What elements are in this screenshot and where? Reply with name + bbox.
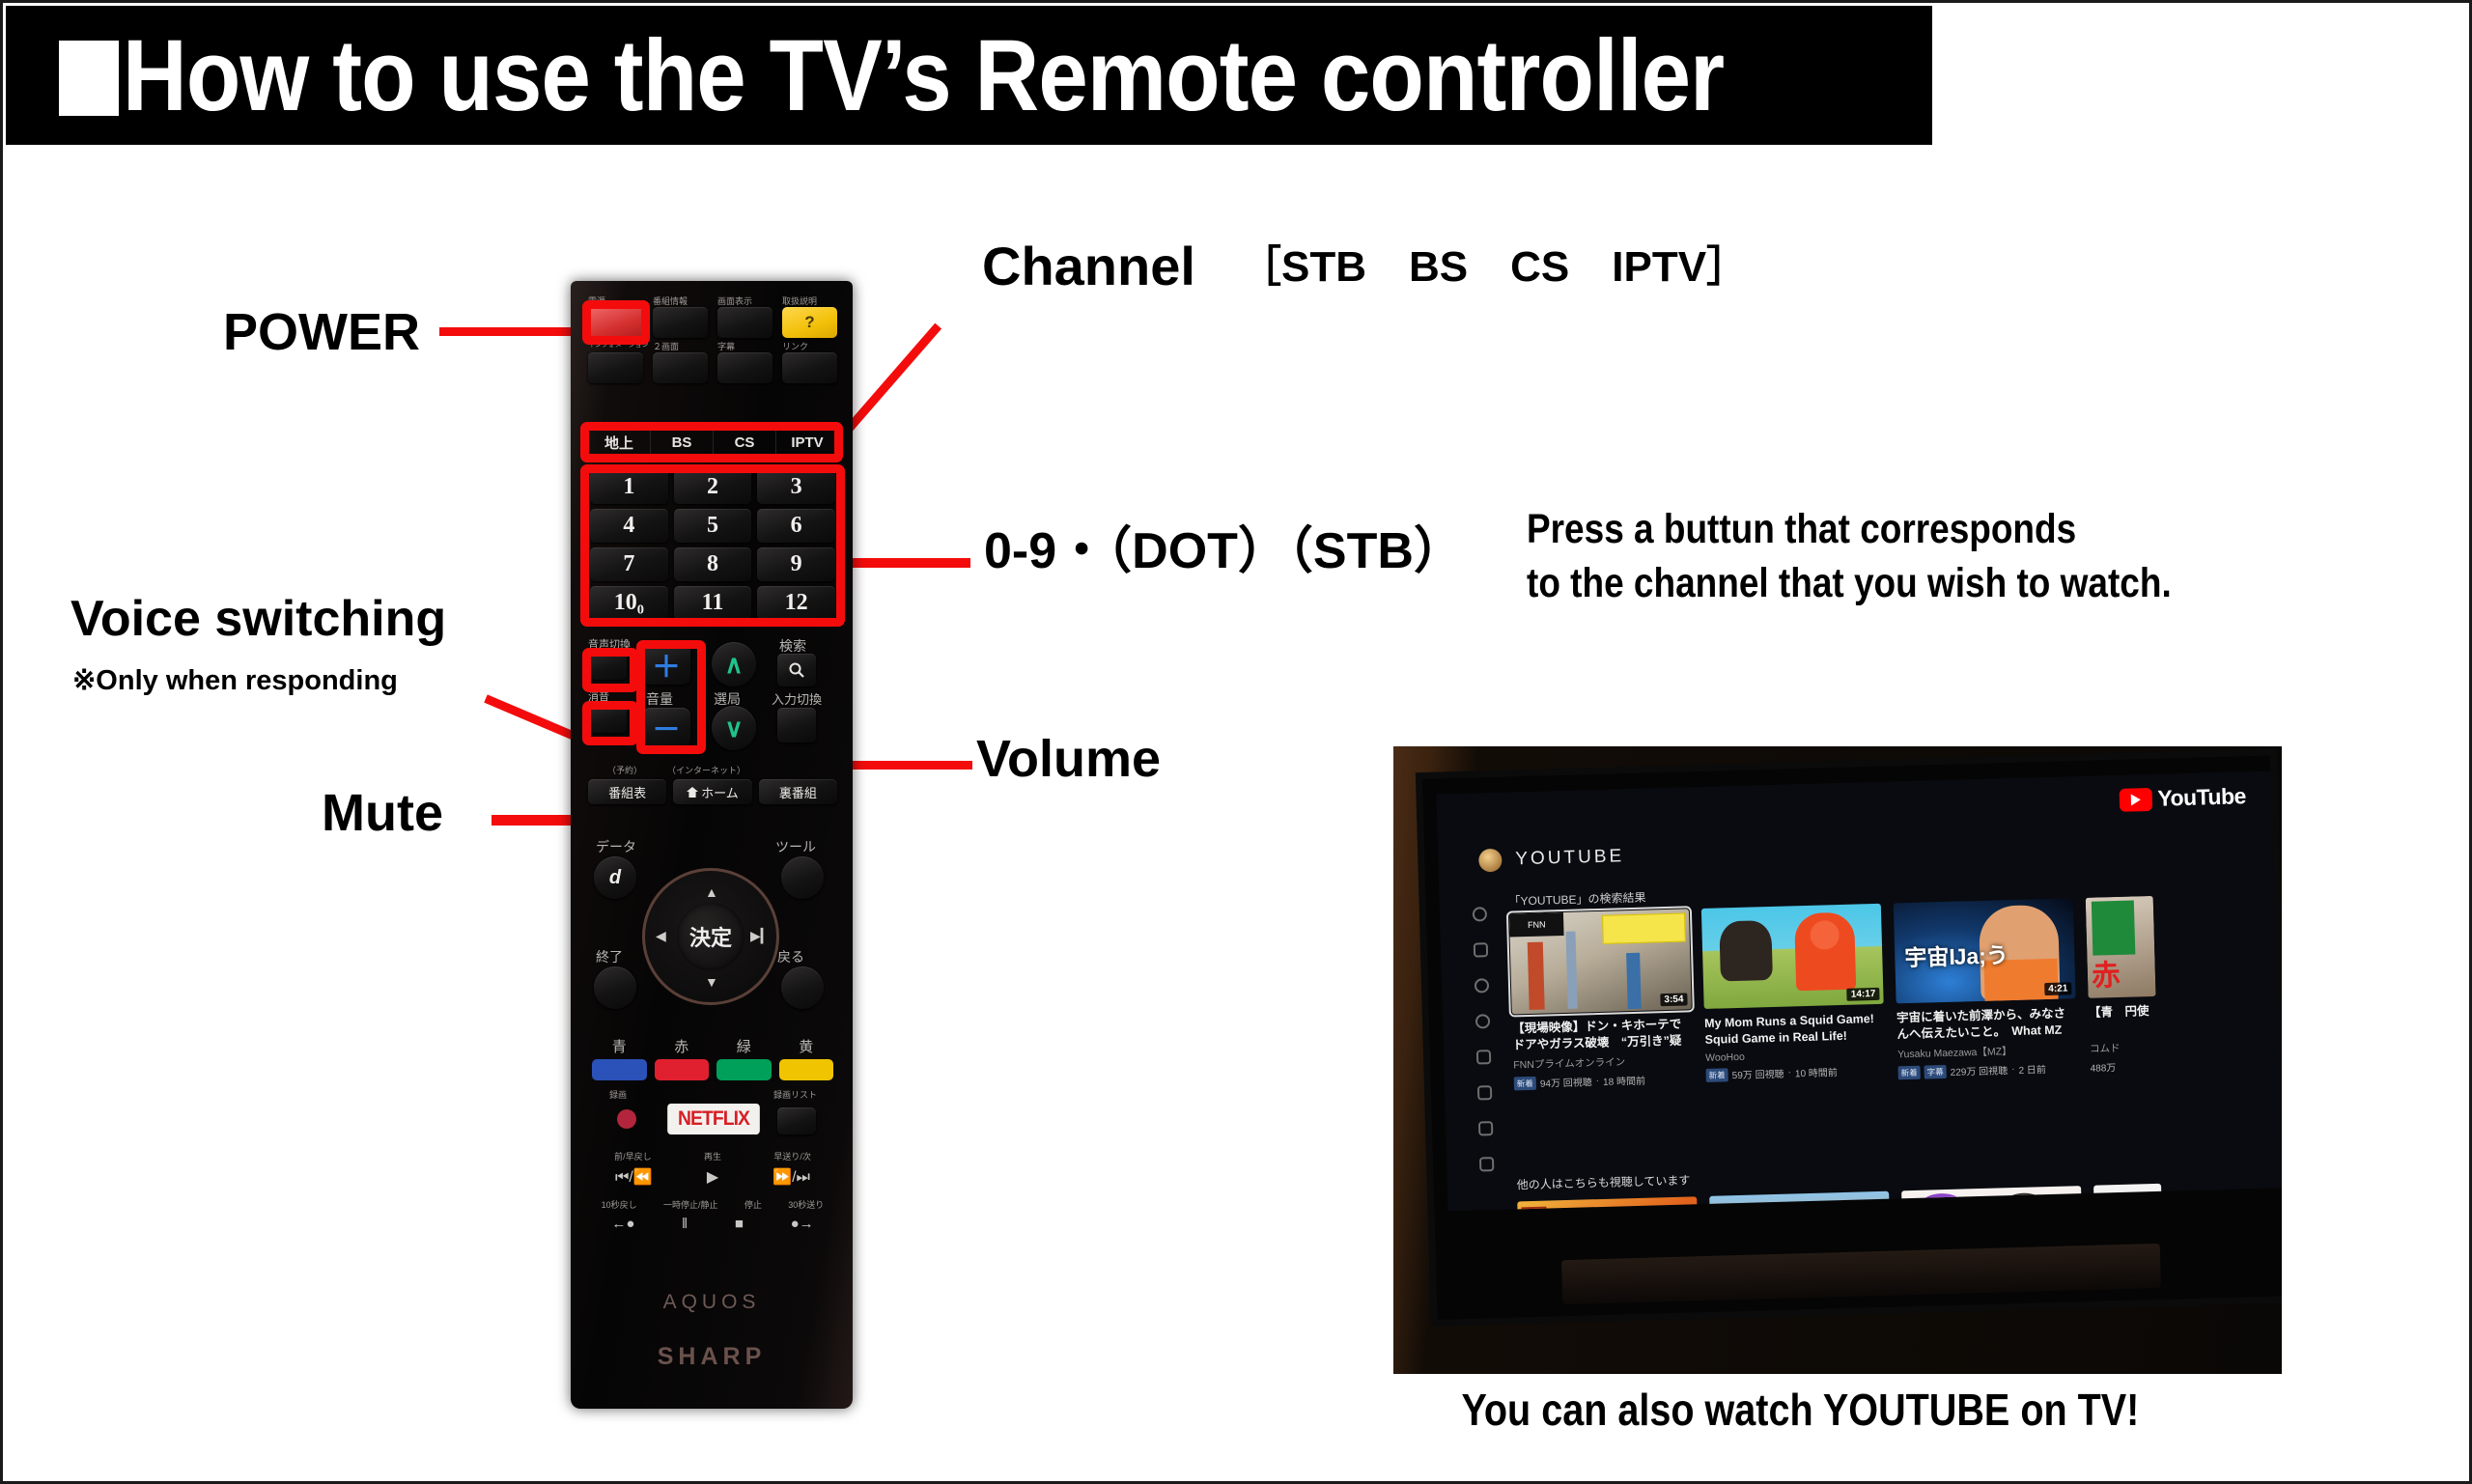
stop-button[interactable]: ■ [735, 1216, 744, 1232]
video-views: 229万 回視聴 [1950, 1062, 2008, 1078]
callout-channel-sources: ［STB BS CS IPTV］ [1239, 246, 1749, 290]
number-key-12[interactable]: 12 [757, 586, 835, 620]
video-meta: 新着 59万 回視聴 · 10 時間前 [1705, 1063, 1885, 1082]
youtube-sidebar-rail [1473, 907, 1495, 1171]
record-caption: 録画 [609, 1088, 627, 1101]
record-button[interactable] [617, 1109, 636, 1129]
back-button[interactable] [781, 966, 824, 1009]
youtube-header: YOUTUBE [1478, 845, 1624, 872]
tool-caption: ツール [775, 837, 816, 856]
internet-caption: （インターネット） [667, 764, 745, 776]
next-caption: 早送り/次 [773, 1150, 811, 1162]
power-button[interactable] [588, 307, 643, 338]
playback-captions-row1: 前/早戻し 再生 早送り/次 [588, 1150, 837, 1162]
input-switch-caption: 入力切換 [772, 689, 822, 708]
avatar[interactable] [1478, 849, 1503, 873]
sidebar-subscriptions-icon[interactable] [1475, 1014, 1490, 1028]
program-guide-button[interactable]: 番組表 [588, 779, 666, 804]
number-key-6[interactable]: 6 [757, 509, 835, 543]
video-views: 488万 [2090, 1059, 2116, 1075]
program-info-button[interactable] [653, 307, 708, 338]
button-caption-information: インフォメーション [588, 340, 643, 352]
mute-caption: 消音 [588, 688, 609, 704]
button-caption-screen-display: 画面表示 [717, 294, 772, 307]
data-caption: データ [596, 837, 636, 856]
video-channel: コムド [2090, 1040, 2157, 1056]
other-program-button[interactable]: 裏番組 [759, 779, 837, 804]
video-meta-sep: · [1787, 1067, 1791, 1078]
exit-caption: 終了 [596, 947, 623, 966]
dpad-right-icon[interactable]: ▶▎ [750, 928, 772, 944]
video-meta: 新着 94万 回視聴 · 18 時間前 [1514, 1071, 1694, 1090]
youtube-logo-word: YouTube [2157, 783, 2246, 812]
video-views: 94万 回視聴 [1540, 1074, 1592, 1089]
volume-down-button[interactable]: － [642, 708, 690, 746]
home-button[interactable]: ホーム [673, 779, 751, 804]
data-button[interactable]: d [594, 856, 636, 899]
home-button-label: ホーム [701, 783, 739, 801]
video-card[interactable]: 赤 【青 円使 コムド 488万 [2086, 896, 2158, 1075]
remote-menu-block: （予約） （インターネット） 番組表 ホーム 裏番組 [588, 764, 837, 804]
stop-caption: 停止 [744, 1198, 762, 1211]
tv-stand [1561, 1244, 2161, 1304]
callout-channel-label: Channel [982, 238, 1195, 294]
video-thumbnail[interactable]: FNN 3:54 [1509, 909, 1692, 1014]
youtube-header-title: YOUTUBE [1515, 846, 1624, 870]
button-caption-link: リンク [782, 340, 837, 352]
pause-caption: 一時停止/静止 [663, 1198, 718, 1211]
search-icon [788, 661, 805, 679]
number-key-1[interactable]: 1 [590, 470, 668, 504]
button-caption-program-info: 番組情報 [653, 294, 708, 307]
video-badge: 新着 [1705, 1068, 1728, 1082]
youtube-play-icon [2119, 787, 2152, 811]
video-thumbnail[interactable] [1517, 1196, 1699, 1211]
video-meta-sep: · [2011, 1064, 2015, 1075]
remote-top-button-grid: 電源 番組情報 画面表示 取扱説明 ? インフォメーション ２画面 字幕 リンク [588, 294, 837, 385]
search-button[interactable] [777, 654, 816, 686]
callout-volume-label: Volume [976, 733, 1161, 786]
tv-caption: You can also watch YOUTUBE on TV! [1393, 1384, 2207, 1436]
sidebar-settings-icon[interactable] [1479, 1157, 1494, 1171]
video-views: 59万 回視聴 [1731, 1066, 1784, 1081]
dpad-left-icon[interactable]: ◀ [656, 928, 666, 944]
channel-source-iptv[interactable]: IPTV [775, 428, 838, 458]
help-button[interactable]: ? [782, 307, 837, 338]
button-caption-subtitle: 字幕 [717, 340, 772, 352]
color-key-green[interactable] [716, 1059, 772, 1080]
tool-button[interactable] [781, 856, 824, 899]
video-age: 2 日前 [2018, 1061, 2046, 1077]
video-row-search-results: FNN 3:54 【現場映像】ドン・キホーテでドアやガラス破壊 “万引き”疑われ… [1509, 896, 2158, 1091]
video-title: 【青 円使 [2089, 1003, 2157, 1038]
video-card[interactable]: 宇宙Ĳa;う 4:21 宇宙に着いた前澤から、みなさんへ伝えたいこと。 What… [1894, 898, 2078, 1079]
color-caption-yellow: 黄 [779, 1036, 834, 1056]
youtube-logo: YouTube [2119, 783, 2246, 813]
video-thumbnail[interactable] [1709, 1191, 1892, 1212]
playback-captions-row2: 10秒戻し 一時停止/静止 停止 30秒送り [588, 1198, 837, 1211]
record-list-button[interactable] [777, 1107, 816, 1134]
square-marker-icon [59, 41, 119, 116]
video-thumbnail[interactable]: 赤 [2086, 896, 2156, 998]
video-card[interactable]: FNN 3:54 【現場映像】ドン・キホーテでドアやガラス破壊 “万引き”疑われ… [1509, 909, 1694, 1090]
video-thumbnail[interactable]: 14:17 [1701, 904, 1884, 1009]
video-thumbnail[interactable]: 宇宙Ĳa;う 4:21 [1894, 898, 2076, 1003]
prev-button[interactable]: ⏮/⏪ [615, 1167, 653, 1187]
numpad-instruction-line2: to the channel that you wish to watch. [1527, 563, 2172, 605]
number-key-9[interactable]: 9 [757, 547, 835, 581]
number-keypad: 1 2 3 4 5 6 7 8 9 10₀ 11 12 [590, 470, 835, 620]
number-key-11[interactable]: 11 [674, 586, 752, 620]
color-key-buttons [592, 1059, 833, 1080]
poster-root: How to use the TV’s Remote controller PO… [0, 0, 2472, 1484]
fwd30-caption: 30秒送り [788, 1198, 824, 1211]
color-key-captions: 青 赤 緑 黄 [592, 1036, 833, 1056]
number-key-2[interactable]: 2 [674, 470, 752, 504]
search-result-label: 「YOUTUBE」の検索結果 [1508, 889, 1645, 910]
color-key-red[interactable] [655, 1059, 710, 1080]
number-key-10[interactable]: 10₀ [590, 586, 668, 620]
video-age: 18 時間前 [1603, 1073, 1645, 1088]
video-duration: 4:21 [2044, 982, 2071, 995]
number-key-4[interactable]: 4 [590, 509, 668, 543]
button-caption-power: 電源 [588, 294, 643, 307]
brand-sharp: SHARP [571, 1343, 853, 1371]
search-caption: 検索 [779, 636, 806, 656]
second-row-label: 他の人はこちらも視聴しています [1517, 1171, 1691, 1192]
color-caption-green: 緑 [716, 1036, 772, 1056]
back10-caption: 10秒戻し [602, 1198, 637, 1211]
video-title: 宇宙に着いた前澤から、みなさんへ伝えたいこと。 What MZ Wants… [1896, 1005, 2077, 1043]
sidebar-history-icon[interactable] [1477, 1085, 1492, 1100]
pause-button[interactable]: ‖ [682, 1216, 688, 1232]
video-thumbnail[interactable] [1901, 1186, 2084, 1211]
video-duration: 14:17 [1847, 988, 1880, 1001]
prev-caption: 前/早戻し [614, 1150, 652, 1162]
sidebar-search-icon[interactable] [1473, 907, 1487, 921]
number-key-7[interactable]: 7 [590, 547, 668, 581]
back10-button[interactable]: ←● [611, 1216, 634, 1232]
fwd30-button[interactable]: ●→ [791, 1216, 814, 1232]
subtitle-button[interactable] [717, 352, 772, 383]
video-meta: 488万 [2090, 1058, 2157, 1075]
ok-button[interactable]: 決定 [677, 903, 744, 970]
tv-bezel: YouTube YOUTUBE 「YOUTUBE」の検索結果 [1422, 755, 2282, 1319]
video-channel: Yusaku Maezawa【MZ】 [1897, 1042, 2077, 1061]
sidebar-home-icon[interactable] [1474, 942, 1488, 957]
channel-up-button[interactable]: ∧ [712, 642, 756, 686]
netflix-button[interactable]: NETFLIX [667, 1104, 760, 1134]
callout-power-label: POWER [223, 306, 420, 359]
voice-switch-button[interactable] [590, 651, 627, 680]
sidebar-library-icon[interactable] [1476, 1050, 1491, 1064]
channel-source-terrestrial[interactable]: 地上 [587, 428, 650, 458]
callout-power-leader [439, 327, 590, 336]
information-button[interactable] [588, 352, 643, 383]
page-title-banner: How to use the TV’s Remote controller [6, 6, 1932, 145]
channel-down-button[interactable]: ∨ [712, 706, 756, 750]
volume-up-button[interactable]: ＋ [642, 644, 690, 685]
video-thumbnail[interactable] [2093, 1184, 2164, 1212]
video-title: My Mom Runs a Squid Game! Squid Game in … [1704, 1011, 1885, 1049]
number-key-3[interactable]: 3 [757, 470, 835, 504]
back-caption: 戻る [777, 947, 804, 966]
voice-switch-caption: 音声切換 [588, 636, 631, 652]
color-caption-blue: 青 [592, 1036, 647, 1056]
playback-buttons-row2: ←● ‖ ■ ●→ [588, 1216, 837, 1232]
home-icon [687, 787, 698, 798]
callout-mute-label: Mute [322, 787, 443, 840]
playback-buttons-row1: ⏮/⏪ ▶ ⏩/⏭ [588, 1167, 837, 1187]
number-key-8[interactable]: 8 [674, 547, 752, 581]
video-badge-secondary: 字幕 [1924, 1064, 1946, 1078]
dpad-down-icon[interactable]: ▼ [705, 974, 718, 990]
two-screen-button[interactable] [653, 352, 708, 383]
video-age: 10 時間前 [1795, 1064, 1838, 1079]
sidebar-watchlater-icon[interactable] [1478, 1121, 1493, 1135]
remote-audio-block: 音声切換 消音 ＋ 音量 － ∧ 選局 ∨ 検索 入力切換 [588, 636, 837, 750]
color-key-blue[interactable] [592, 1059, 647, 1080]
record-list-caption: 録画リスト [773, 1088, 817, 1101]
dpad-up-icon[interactable]: ▲ [705, 884, 718, 900]
callout-voice-switching-note: ※Only when responding [72, 667, 398, 696]
video-channel: WooHoo [1705, 1048, 1885, 1064]
mute-button[interactable] [590, 704, 627, 733]
tv-screen: YouTube YOUTUBE 「YOUTUBE」の検索結果 [1436, 770, 2282, 1211]
remote-controller-photo: 電源 番組情報 画面表示 取扱説明 ? インフォメーション ２画面 字幕 リンク [571, 281, 853, 1409]
channel-source-bs[interactable]: BS [650, 428, 713, 458]
video-badge: 新着 [1514, 1076, 1536, 1090]
tv-photo: YouTube YOUTUBE 「YOUTUBE」の検索結果 [1393, 746, 2282, 1374]
video-badge: 新着 [1897, 1065, 1920, 1079]
exit-button[interactable] [594, 966, 636, 1009]
channel-source-cs[interactable]: CS [713, 428, 775, 458]
play-caption: 再生 [704, 1150, 721, 1162]
video-card[interactable]: 14:17 My Mom Runs a Squid Game! Squid Ga… [1701, 904, 1886, 1085]
video-meta-sep: · [1596, 1076, 1600, 1086]
callout-numpad-label: 0-9・（DOT）（STB） [984, 526, 1464, 577]
button-caption-manual: 取扱説明 [782, 294, 837, 307]
channel-source-band: 地上 BS CS IPTV [587, 428, 838, 458]
play-button[interactable]: ▶ [707, 1167, 718, 1187]
video-meta: 新着 字幕 229万 回視聴 · 2 日前 [1897, 1060, 2077, 1079]
input-switch-button[interactable] [777, 708, 816, 742]
number-key-5[interactable]: 5 [674, 509, 752, 543]
callout-voice-switching-label: Voice switching [70, 594, 446, 645]
reserve-caption: （予約） [607, 764, 642, 776]
brand-aquos: AQUOS [571, 1291, 853, 1314]
link-button[interactable] [782, 352, 837, 383]
sidebar-explore-icon[interactable] [1475, 978, 1489, 993]
numpad-instruction-line1: Press a buttun that corresponds [1527, 509, 2076, 551]
page-title: How to use the TV’s Remote controller [123, 25, 1724, 126]
video-title: 【現場映像】ドン・キホーテでドアやガラス破壊 “万引き”疑われ激… [1512, 1016, 1693, 1053]
video-channel: FNNプライムオンライン [1513, 1052, 1693, 1072]
button-caption-two-screen: ２画面 [653, 340, 708, 352]
color-key-yellow[interactable] [779, 1059, 834, 1080]
callout-volume-leader [852, 761, 972, 770]
color-caption-red: 赤 [655, 1036, 710, 1056]
screen-display-button[interactable] [717, 307, 772, 338]
next-button[interactable]: ⏩/⏭ [772, 1167, 810, 1187]
video-duration: 3:54 [1660, 993, 1687, 1006]
